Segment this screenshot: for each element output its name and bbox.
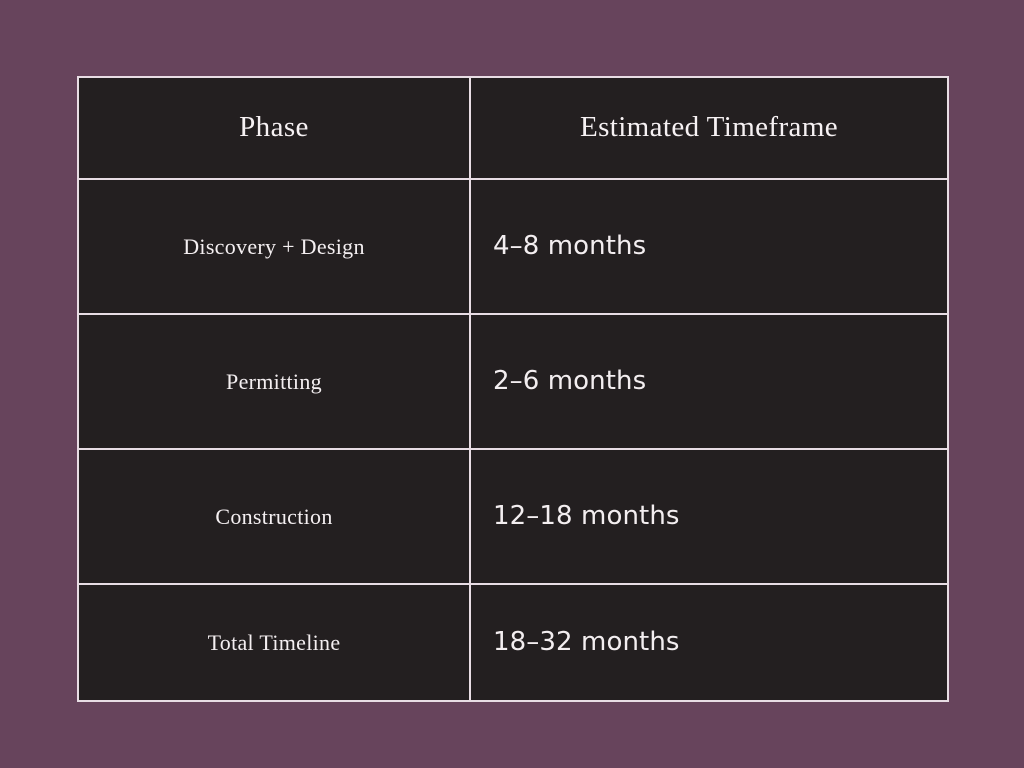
project-timeline-table: Phase Estimated Timeframe Discovery + De… <box>77 76 949 702</box>
cell-timeframe: 18–32 months <box>470 584 948 701</box>
table-row: Discovery + Design 4–8 months <box>78 179 948 314</box>
header-label-timeframe: Estimated Timeframe <box>580 112 838 144</box>
header-cell-phase: Phase <box>78 77 470 179</box>
cell-timeframe: 2–6 months <box>470 314 948 449</box>
slide-canvas: Phase Estimated Timeframe Discovery + De… <box>0 0 1024 768</box>
cell-phase-inner: Total Timeline <box>79 585 469 700</box>
phase-label: Discovery + Design <box>183 234 365 259</box>
timeframe-value: 18–32 months <box>493 628 680 658</box>
header-cell-timeframe: Estimated Timeframe <box>470 77 948 179</box>
table-row: Permitting 2–6 months <box>78 314 948 449</box>
cell-phase: Construction <box>78 449 470 584</box>
header-cell-phase-inner: Phase <box>79 78 469 178</box>
cell-timeframe: 12–18 months <box>470 449 948 584</box>
timeframe-value: 12–18 months <box>493 502 680 532</box>
cell-timeframe-inner: 18–32 months <box>471 585 947 700</box>
phase-label: Construction <box>215 504 332 529</box>
table-row: Construction 12–18 months <box>78 449 948 584</box>
phase-label: Total Timeline <box>208 630 341 655</box>
table-row: Total Timeline 18–32 months <box>78 584 948 701</box>
cell-phase-inner: Permitting <box>79 315 469 448</box>
cell-phase: Discovery + Design <box>78 179 470 314</box>
cell-timeframe: 4–8 months <box>470 179 948 314</box>
cell-timeframe-inner: 12–18 months <box>471 450 947 583</box>
timeframe-value: 2–6 months <box>493 367 646 397</box>
table-header-row: Phase Estimated Timeframe <box>78 77 948 179</box>
cell-phase: Permitting <box>78 314 470 449</box>
cell-timeframe-inner: 2–6 months <box>471 315 947 448</box>
header-label-phase: Phase <box>239 112 309 144</box>
cell-timeframe-inner: 4–8 months <box>471 180 947 313</box>
cell-phase-inner: Discovery + Design <box>79 180 469 313</box>
timeframe-value: 4–8 months <box>493 232 646 262</box>
cell-phase-inner: Construction <box>79 450 469 583</box>
phase-label: Permitting <box>226 369 322 394</box>
cell-phase: Total Timeline <box>78 584 470 701</box>
header-cell-timeframe-inner: Estimated Timeframe <box>471 78 947 178</box>
